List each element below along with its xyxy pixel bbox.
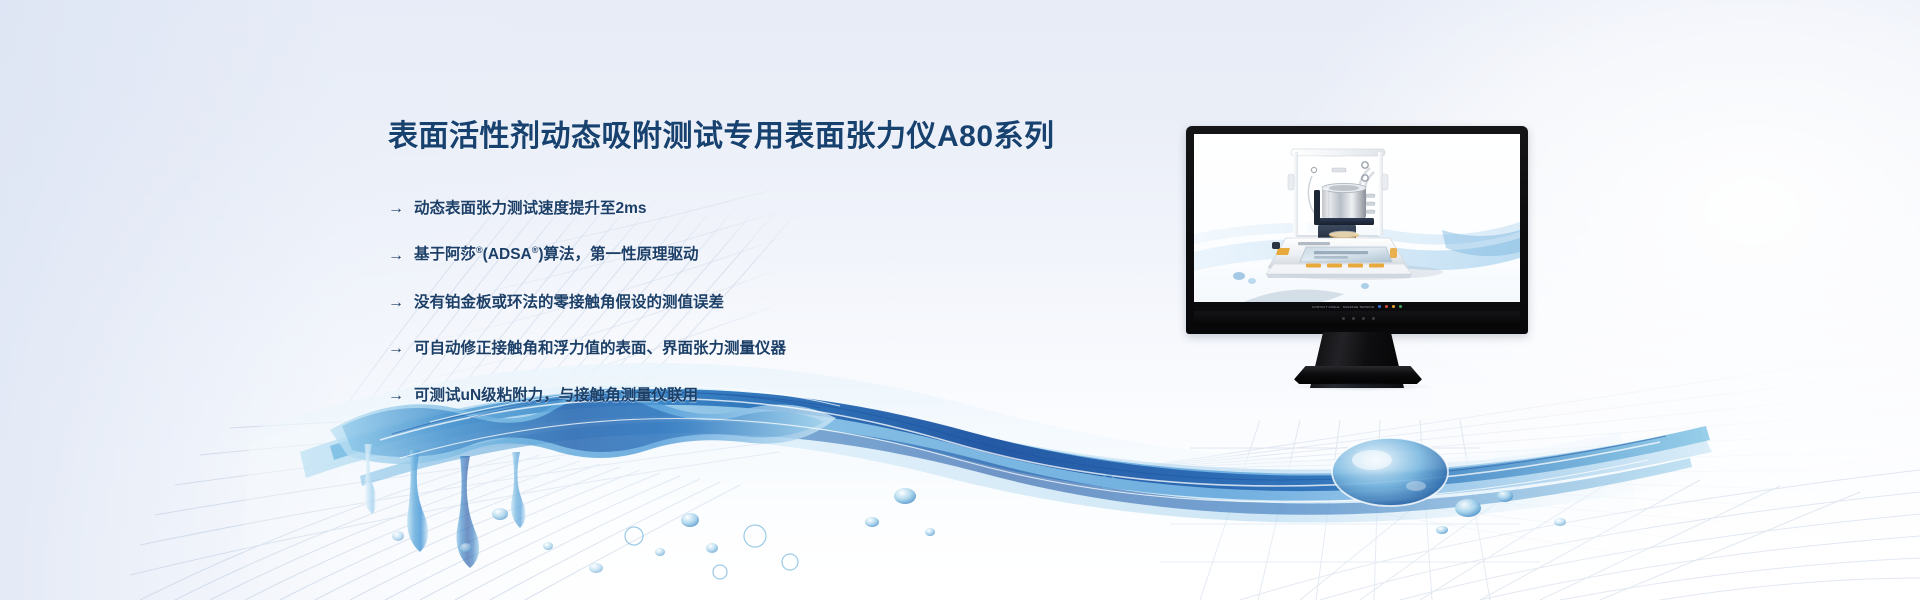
banner-copy: 表面活性剂动态吸附测试专用表面张力仪A80系列 → 动态表面张力测试速度提升至2… — [388, 118, 1148, 407]
list-item-label: 可测试uN级粘附力，与接触角测量仪联用 — [414, 386, 698, 407]
bezel-dot — [1362, 317, 1365, 320]
list-item: → 可测试uN级粘附力，与接触角测量仪联用 — [388, 385, 1148, 407]
list-item-label: 动态表面张力测试速度提升至2ms — [414, 199, 647, 220]
hero-banner: 表面活性剂动态吸附测试专用表面张力仪A80系列 → 动态表面张力测试速度提升至2… — [0, 0, 1920, 600]
monitor-shadow — [1290, 382, 1432, 391]
footer-dot-green — [1399, 305, 1402, 308]
footer-dot-red — [1385, 305, 1388, 308]
list-item: → 没有铂金板或环法的零接触角假设的测值误差 — [388, 292, 1148, 314]
arrow-right-icon: → — [388, 338, 404, 360]
product-photo — [1194, 134, 1520, 311]
list-item: → 基于阿莎®(ADSA®)算法，第一性原理驱动 — [388, 244, 1148, 266]
footer-dot-yellow — [1392, 305, 1395, 308]
list-item: → 动态表面张力测试速度提升至2ms — [388, 198, 1148, 220]
bezel-dot — [1352, 317, 1355, 320]
registered-mark: ® — [476, 245, 483, 255]
power-indicator — [1342, 317, 1345, 320]
screen-footer-text: CONTACT ANGLE · SURFACE TENSION — [1312, 305, 1374, 309]
list-item: → 可自动修正接触角和浮力值的表面、界面张力测量仪器 — [388, 338, 1148, 360]
arrow-right-icon: → — [388, 385, 404, 407]
bezel-dot — [1372, 317, 1375, 320]
footer-dot-blue — [1378, 305, 1381, 308]
arrow-right-icon: → — [388, 198, 404, 220]
list-item-label: 可自动修正接触角和浮力值的表面、界面张力测量仪器 — [414, 339, 786, 360]
list-item-label: 没有铂金板或环法的零接触角假设的测值误差 — [414, 293, 724, 314]
feature-list: → 动态表面张力测试速度提升至2ms → 基于阿莎®(ADSA®)算法，第一性原… — [388, 198, 1148, 408]
page-title: 表面活性剂动态吸附测试专用表面张力仪A80系列 — [388, 118, 1148, 156]
monitor-screen: CONTACT ANGLE · SURFACE TENSION — [1194, 134, 1520, 311]
arrow-right-icon: → — [388, 292, 404, 314]
monitor-chin — [1194, 311, 1520, 326]
list-item-label: 基于阿莎®(ADSA®)算法，第一性原理驱动 — [414, 244, 699, 266]
product-monitor: CONTACT ANGLE · SURFACE TENSION — [1186, 126, 1528, 388]
arrow-right-icon: → — [388, 245, 404, 267]
screen-footer-bar: CONTACT ANGLE · SURFACE TENSION — [1194, 302, 1520, 311]
